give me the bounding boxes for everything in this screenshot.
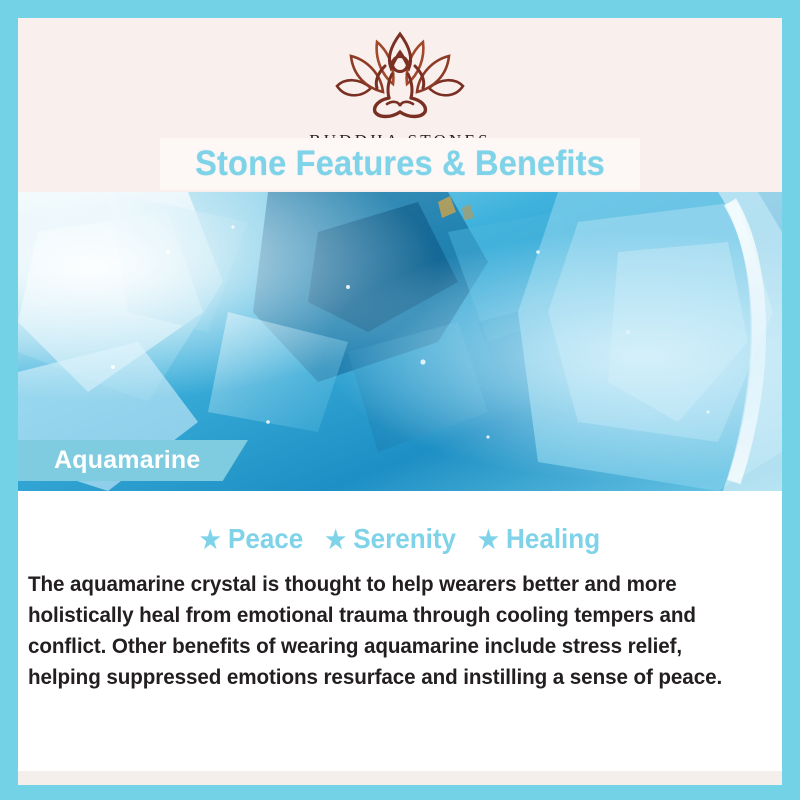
stone-name-label: Aquamarine — [54, 440, 200, 481]
lotus-meditation-icon — [325, 30, 475, 127]
star-icon: ★ — [478, 526, 499, 554]
star-icon: ★ — [325, 526, 346, 554]
aquamarine-crystal-photo: Aquamarine — [18, 192, 782, 491]
feature-item-serenity: Serenity — [353, 523, 456, 554]
page-title: Stone Features & Benefits — [45, 138, 756, 190]
description-text: The aquamarine crystal is thought to hel… — [28, 569, 746, 693]
brand-logo: BUDDHA STONES — [18, 30, 782, 151]
feature-item-healing: Healing — [506, 523, 600, 554]
bottom-accent-strip — [18, 771, 782, 785]
poster-card: BUDDHA STONES Stone Features & Benefits — [18, 18, 782, 785]
star-icon: ★ — [200, 526, 221, 554]
feature-list: ★ Peace ★ Serenity ★ Healing — [45, 523, 756, 555]
header-section: BUDDHA STONES Stone Features & Benefits — [18, 18, 782, 193]
content-section: ★ Peace ★ Serenity ★ Healing The aquamar… — [18, 491, 782, 785]
feature-item-peace: Peace — [228, 523, 303, 554]
poster-root: BUDDHA STONES Stone Features & Benefits — [0, 0, 800, 800]
